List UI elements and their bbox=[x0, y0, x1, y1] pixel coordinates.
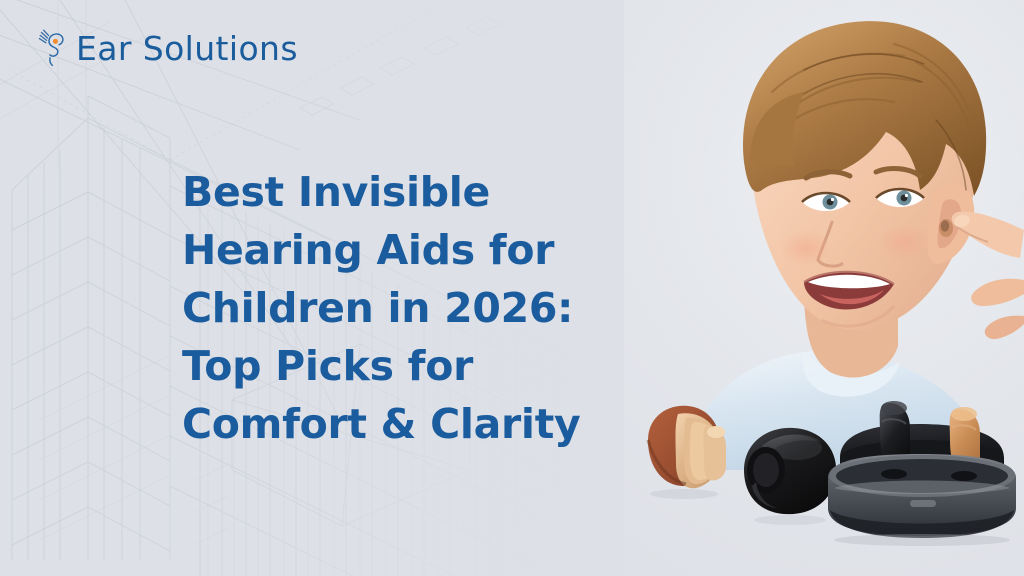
headline-line-3: Children in 2026: bbox=[182, 279, 612, 337]
brand-logo[interactable]: Ear Solutions bbox=[38, 26, 298, 70]
hero-photo-composition bbox=[624, 0, 1024, 576]
headline-line-2: Hearing Aids for bbox=[182, 221, 612, 279]
page-title: Best Invisible Hearing Aids for Children… bbox=[182, 163, 612, 453]
brand-name: Ear Solutions bbox=[76, 32, 298, 65]
ear-with-soundwaves-icon bbox=[38, 26, 72, 70]
headline-line-1: Best Invisible bbox=[182, 163, 612, 221]
headline-line-4: Top Picks for bbox=[182, 337, 612, 395]
charging-case-with-earbuds-product bbox=[814, 392, 1024, 547]
hero-banner: Ear Solutions Best Invisible Hearing Aid… bbox=[0, 0, 1024, 576]
headline-line-5: Comfort & Clarity bbox=[182, 395, 612, 453]
